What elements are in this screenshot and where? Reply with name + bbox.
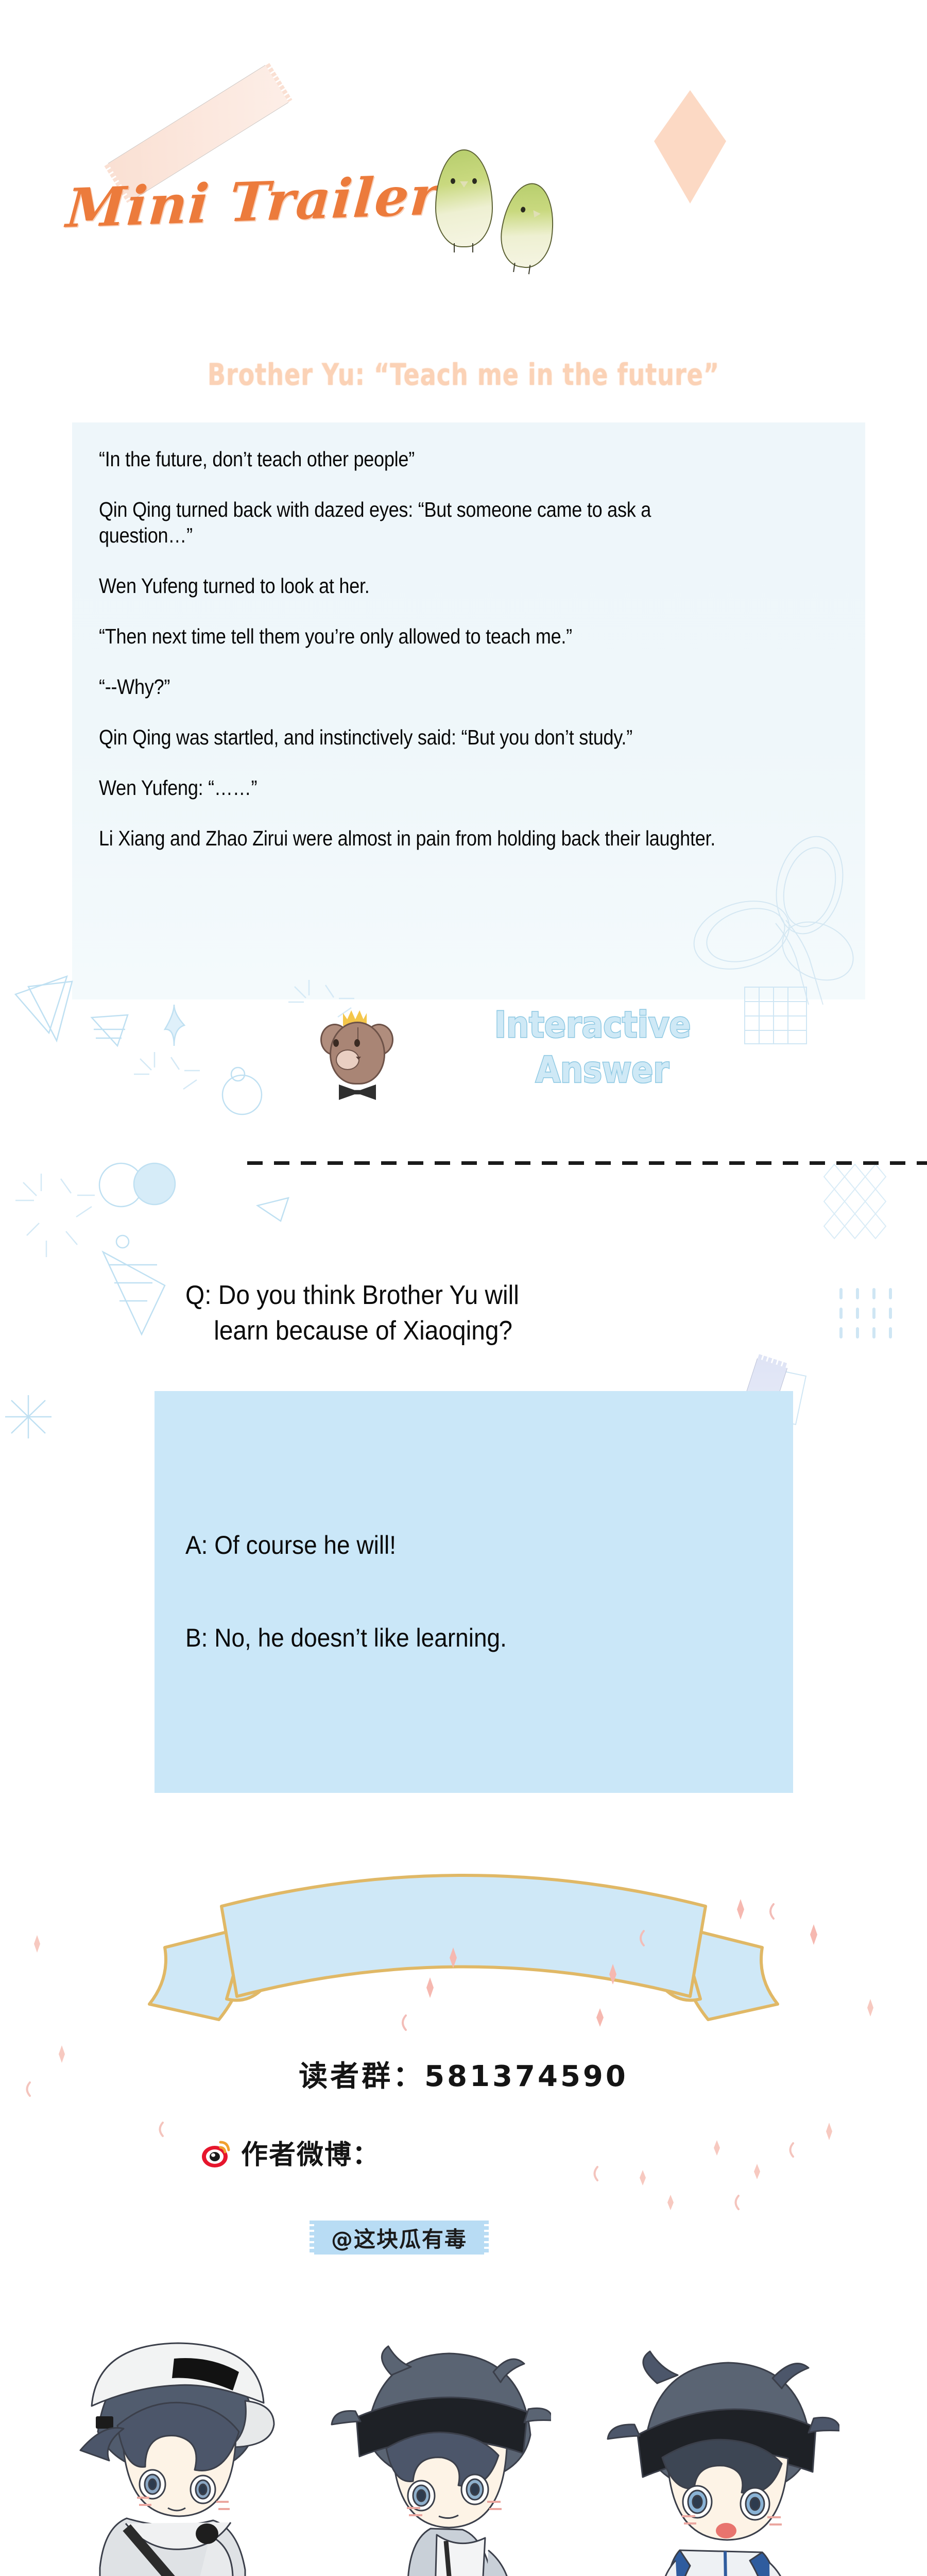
answer-option-a[interactable]: A: Of course he will! [185, 1530, 396, 1560]
bear-muzzle [336, 1049, 359, 1070]
question-line-2: learn because of Xiaoqing? [214, 1313, 754, 1349]
section-subtitle: Brother Yu: “Teach me in the future” [0, 357, 927, 392]
weibo-row: 作者微博： [201, 2133, 380, 2172]
reader-group-text: 读者群：581374590 [0, 2053, 927, 2095]
chibi-boy-with-white-cap [62, 2303, 278, 2576]
dialogue-line: “Then next time tell them you’re only al… [99, 623, 750, 649]
bird-eye-right [472, 178, 477, 184]
bird-leg-right [472, 243, 473, 252]
bird-leg-left [454, 243, 455, 252]
ribbon-bow-decoration [680, 829, 865, 1005]
answer-option-b[interactable]: B: No, he doesn’t like learning. [185, 1623, 507, 1653]
heading-line-1: Interactive [494, 1004, 691, 1046]
interactive-answer-heading: Interactive Answer [494, 1003, 691, 1092]
chibi-boy-with-tracksuit [597, 2293, 839, 2576]
peach-diamond-decoration [654, 90, 726, 204]
bear-eye-left [333, 1039, 339, 1047]
bird-eye-left [451, 178, 455, 184]
character-illustrations [0, 2293, 927, 2576]
question-line-1: Q: Do you think Brother Yu will [185, 1280, 519, 1310]
dialogue-line: Wen Yufeng: “……” [99, 775, 750, 801]
bird-icon-small [496, 180, 559, 271]
bird-body [435, 149, 493, 247]
bear-mascot-icon [319, 1012, 397, 1105]
bowtie-icon [339, 1084, 376, 1100]
bird-body [496, 180, 559, 271]
page-title: Mini Trailer [64, 163, 442, 240]
question-text: Q: Do you think Brother Yu will learn be… [185, 1278, 754, 1348]
weibo-handle-tape[interactable]: @这块瓜有毒 [314, 2221, 484, 2255]
bear-eye-right [354, 1039, 360, 1047]
bird-icon-large [435, 149, 493, 247]
weibo-icon [201, 2136, 234, 2169]
dialogue-line: Qin Qing was startled, and instinctively… [99, 724, 750, 750]
answer-options-box[interactable]: A: Of course he will! B: No, he doesn’t … [154, 1391, 793, 1793]
dialogue-line: “--Why?” [99, 674, 750, 700]
ribbon-banner-decoration [93, 1850, 834, 2066]
dialogue-line: Li Xiang and Zhao Zirui were almost in p… [99, 825, 750, 851]
bird-beak [460, 181, 468, 188]
dialogue-line: “In the future, don’t teach other people… [99, 446, 750, 472]
weibo-handle[interactable]: @这块瓜有毒 [331, 2222, 467, 2253]
dialogue-line: Wen Yufeng turned to look at her. [99, 573, 750, 599]
dialogue-line: Qin Qing turned back with dazed eyes: “B… [99, 497, 750, 548]
chibi-boy-with-headband [330, 2308, 551, 2576]
weibo-label: 作者微博： [241, 2133, 380, 2172]
divider-dashed-top [247, 1161, 927, 1165]
heading-line-2: Answer [536, 1047, 691, 1092]
bear-nose [356, 1057, 361, 1060]
